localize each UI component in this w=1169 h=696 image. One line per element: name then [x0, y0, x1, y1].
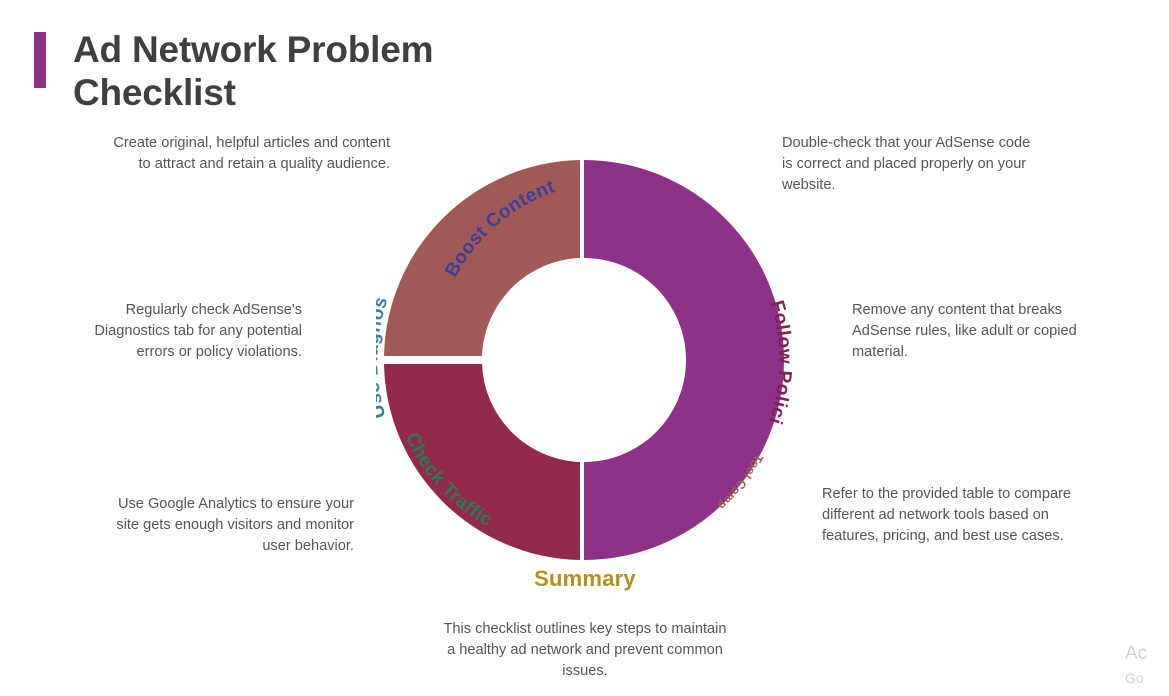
description-tool-comparison: Refer to the provided table to compare d… [822, 484, 1080, 547]
donut-slice-check-traffic[interactable] [384, 364, 580, 560]
watermark-line-1: Ac [1125, 640, 1169, 668]
description-use-diagnostics: Regularly check AdSense's Diagnostics ta… [60, 300, 302, 363]
slide-canvas: { "slide": { "title": "Ad Network Proble… [0, 0, 1169, 696]
description-summary: This checklist outlines key steps to mai… [440, 619, 730, 682]
page-title: Ad Network Problem Checklist [73, 28, 493, 115]
title-accent-bar [34, 32, 46, 88]
donut-chart: Boost Content Verify Ad Code Follow Poli… [376, 152, 792, 568]
description-check-traffic: Use Google Analytics to ensure your site… [110, 494, 354, 557]
description-boost-content: Create original, helpful articles and co… [112, 133, 390, 175]
watermark-line-2: Go [1125, 668, 1169, 688]
activation-watermark: Ac Go [1125, 640, 1169, 688]
summary-heading: Summary [440, 566, 730, 592]
description-verify-ad-code: Double-check that your AdSense code is c… [782, 133, 1042, 196]
slide-title-block: Ad Network Problem Checklist [34, 28, 493, 115]
description-follow-policies: Remove any content that breaks AdSense r… [852, 300, 1102, 363]
